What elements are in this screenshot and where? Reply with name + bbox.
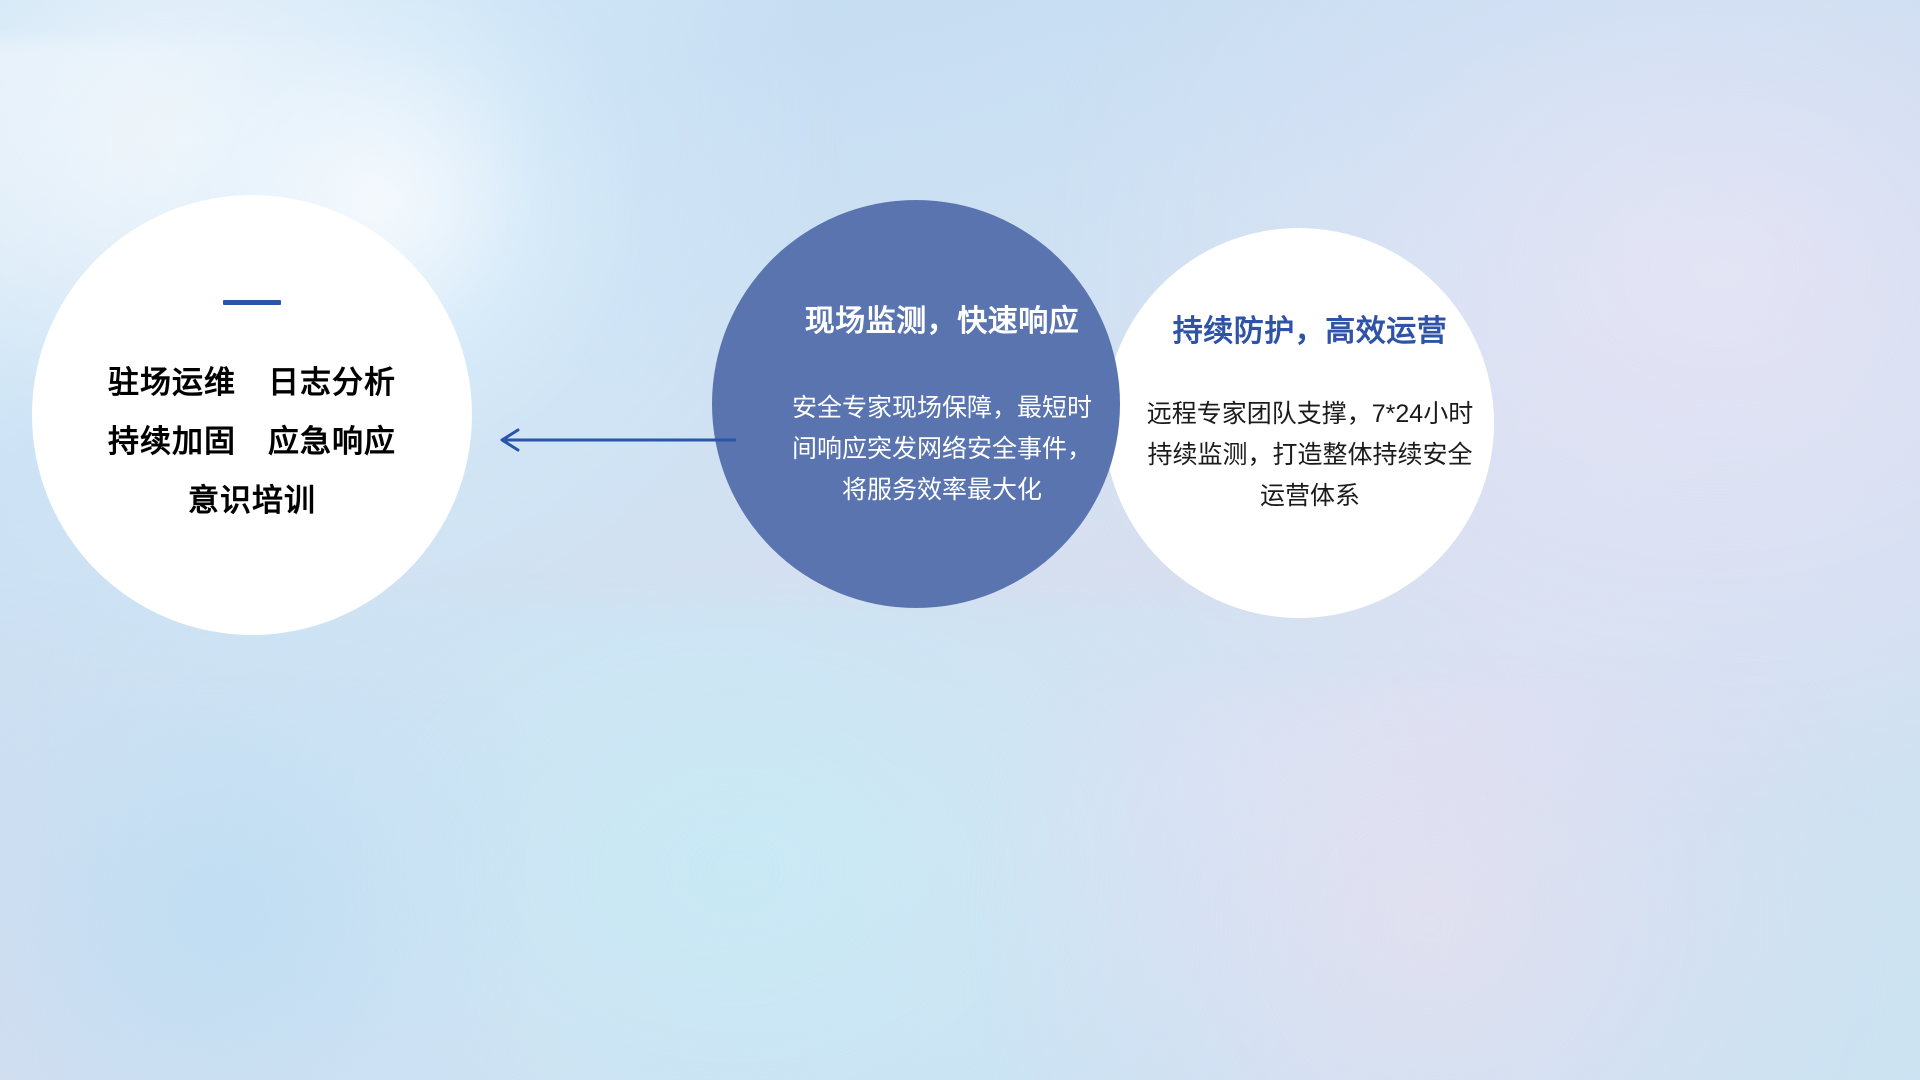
right-operations-circle[interactable]: 持续防护，高效运营 远程专家团队支撑，7*24小时持续监测，打造整体持续安全运营… (1104, 228, 1494, 618)
left-circle-line-3: 意识培训 (108, 471, 396, 530)
right-circle-body: 远程专家团队支撑，7*24小时持续监测，打造整体持续安全运营体系 (1140, 394, 1480, 517)
connector-arrow (488, 422, 738, 458)
middle-monitoring-circle[interactable]: 现场监测，快速响应 安全专家现场保障，最短时间响应突发网络安全事件，将服务效率最… (712, 200, 1120, 608)
left-circle-line-2: 持续加固 应急响应 (108, 412, 396, 471)
arrow-left-icon (488, 422, 738, 458)
left-circle-text-block: 驻场运维 日志分析 持续加固 应急响应 意识培训 (108, 353, 396, 530)
left-capability-circle[interactable]: 驻场运维 日志分析 持续加固 应急响应 意识培训 (32, 195, 472, 635)
right-circle-title: 持续防护，高效运营 (1173, 306, 1448, 350)
slide-canvas: 驻场运维 日志分析 持续加固 应急响应 意识培训 持续防护，高效运营 远程专家团… (0, 0, 1920, 1080)
left-circle-line-1: 驻场运维 日志分析 (108, 353, 396, 412)
middle-circle-title: 现场监测，快速响应 (805, 296, 1080, 340)
divider-dash-icon (223, 300, 281, 305)
middle-circle-body: 安全专家现场保障，最短时间响应突发网络安全事件，将服务效率最大化 (792, 388, 1092, 511)
